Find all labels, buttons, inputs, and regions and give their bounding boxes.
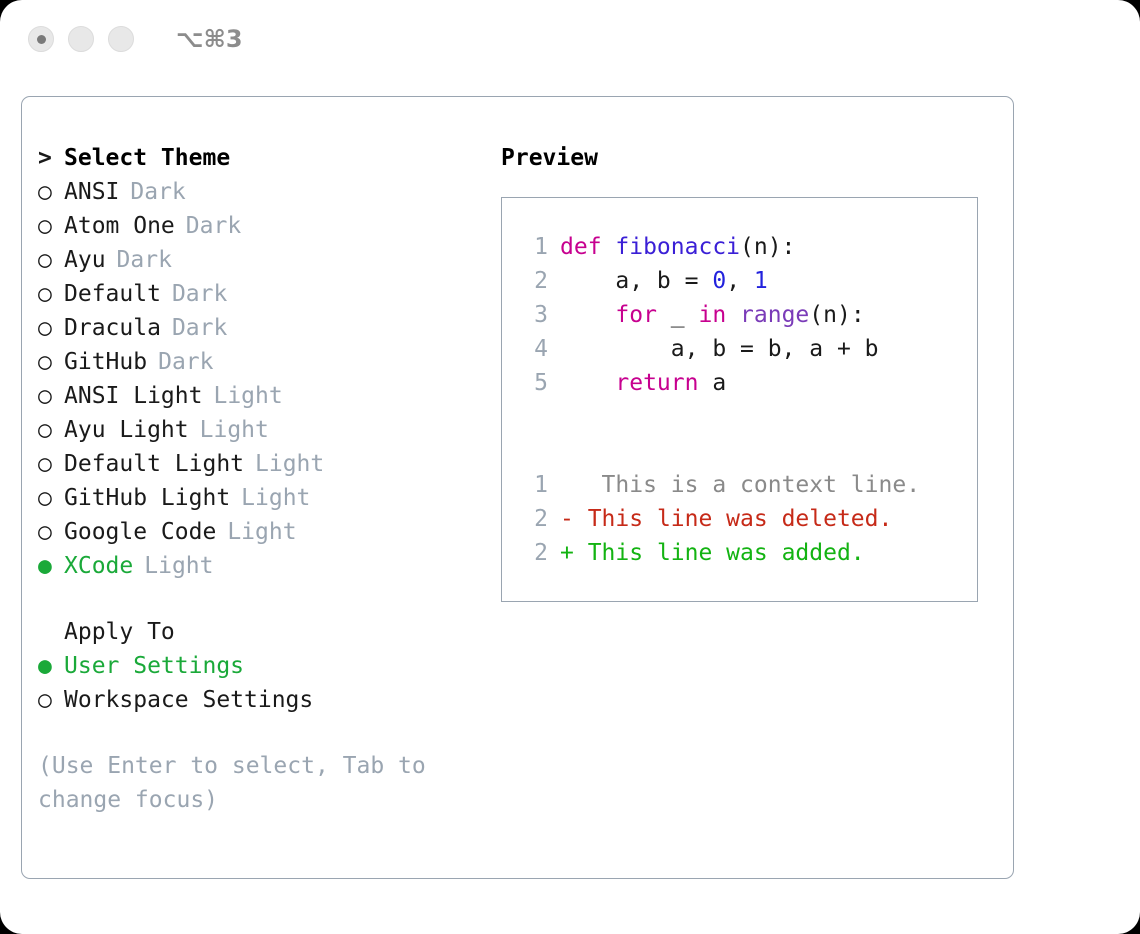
code-line: 5 return a xyxy=(522,366,977,400)
code-line: 1def fibonacci(n): xyxy=(522,230,977,264)
theme-option-atom-one[interactable]: ○Atom OneDark xyxy=(38,209,487,243)
diff-sign: - xyxy=(560,506,574,532)
theme-option-variant: Dark xyxy=(186,209,241,243)
window-dot-second[interactable] xyxy=(68,26,94,52)
code-token: in xyxy=(698,302,726,328)
line-number: 2 xyxy=(522,264,548,298)
code-token: range xyxy=(740,302,809,328)
theme-option-variant: Light xyxy=(227,515,296,549)
theme-option-variant: Dark xyxy=(158,345,213,379)
theme-option-ansi-light[interactable]: ○ANSI LightLight xyxy=(38,379,487,413)
diff-text: This line was added. xyxy=(574,540,865,566)
theme-option-name: Ayu xyxy=(64,243,106,277)
code-token: _ xyxy=(657,302,699,328)
prompt-caret-icon: > xyxy=(38,141,64,175)
code-token: , xyxy=(726,268,754,294)
theme-option-name: Ayu Light xyxy=(64,413,189,447)
theme-selector-column: > Select Theme ○ANSIDark○Atom OneDark○Ay… xyxy=(22,97,487,878)
code-token xyxy=(560,370,615,396)
theme-option-name: Dracula xyxy=(64,311,161,345)
spacer xyxy=(522,400,977,434)
apply-to-options: ●User Settings○Workspace Settings xyxy=(38,649,487,717)
theme-option-name: XCode xyxy=(64,549,133,583)
theme-option-name: Default xyxy=(64,277,161,311)
theme-option-default-light[interactable]: ○Default LightLight xyxy=(38,447,487,481)
window-titlebar: ⌥⌘3 xyxy=(0,0,1140,78)
diff-line: 2+ This line was added. xyxy=(522,536,977,570)
theme-option-github[interactable]: ○GitHubDark xyxy=(38,345,487,379)
theme-option-variant: Dark xyxy=(117,243,172,277)
spacer xyxy=(38,717,487,749)
radio-selected-icon: ● xyxy=(38,549,64,583)
radio-unselected-icon: ○ xyxy=(38,379,64,413)
radio-unselected-icon: ○ xyxy=(38,481,64,515)
select-theme-header: > Select Theme xyxy=(38,141,487,175)
theme-option-name: Atom One xyxy=(64,209,175,243)
radio-unselected-icon: ○ xyxy=(38,515,64,549)
radio-unselected-icon: ○ xyxy=(38,175,64,209)
apply-to-label: Apply To xyxy=(38,615,487,649)
diff-text: This line was deleted. xyxy=(574,506,893,532)
apply-to-option-name: User Settings xyxy=(64,649,244,683)
code-token: (n): xyxy=(740,234,795,260)
code-line: 3 for _ in range(n): xyxy=(522,298,977,332)
diff-line: 2- This line was deleted. xyxy=(522,502,977,536)
theme-option-ansi[interactable]: ○ANSIDark xyxy=(38,175,487,209)
theme-list: ○ANSIDark○Atom OneDark○AyuDark○DefaultDa… xyxy=(38,175,487,583)
window-dot-active[interactable] xyxy=(28,26,54,52)
apply-to-option-workspace-settings[interactable]: ○Workspace Settings xyxy=(38,683,487,717)
window-dot-third[interactable] xyxy=(108,26,134,52)
code-token xyxy=(560,302,615,328)
code-line: 4 a, b = b, a + b xyxy=(522,332,977,366)
theme-option-variant: Light xyxy=(241,481,310,515)
line-number: 5 xyxy=(522,366,548,400)
theme-option-variant: Dark xyxy=(172,311,227,345)
code-token: (n): xyxy=(809,302,864,328)
preview-box: 1def fibonacci(n):2 a, b = 0, 13 for _ i… xyxy=(501,197,978,602)
theme-option-ayu[interactable]: ○AyuDark xyxy=(38,243,487,277)
keyboard-hint-text: (Use Enter to select, Tab to change focu… xyxy=(38,749,448,817)
main-panel: > Select Theme ○ANSIDark○Atom OneDark○Ay… xyxy=(21,96,1014,879)
theme-option-name: Google Code xyxy=(64,515,216,549)
radio-selected-icon: ● xyxy=(38,649,64,683)
theme-option-variant: Light xyxy=(144,549,213,583)
code-token: for xyxy=(615,302,657,328)
code-token: a, b = b, a + b xyxy=(560,336,879,362)
theme-option-google-code[interactable]: ○Google CodeLight xyxy=(38,515,487,549)
theme-option-dracula[interactable]: ○DraculaDark xyxy=(38,311,487,345)
radio-unselected-icon: ○ xyxy=(38,209,64,243)
code-token: a, b = xyxy=(560,268,712,294)
apply-to-option-name: Workspace Settings xyxy=(64,683,313,717)
code-token: return xyxy=(615,370,698,396)
radio-unselected-icon: ○ xyxy=(38,413,64,447)
code-token: 0 xyxy=(712,268,726,294)
line-number: 2 xyxy=(522,536,548,570)
preview-title: Preview xyxy=(501,141,1013,175)
line-number: 3 xyxy=(522,298,548,332)
code-token: def xyxy=(560,234,615,260)
diff-sample: 1 This is a context line.2- This line wa… xyxy=(522,468,977,570)
theme-option-name: Default Light xyxy=(64,447,244,481)
theme-option-variant: Dark xyxy=(130,175,185,209)
window-dot-active-indicator xyxy=(37,35,46,44)
theme-option-name: ANSI xyxy=(64,175,119,209)
radio-unselected-icon: ○ xyxy=(38,311,64,345)
theme-option-variant: Light xyxy=(213,379,282,413)
theme-option-name: ANSI Light xyxy=(64,379,202,413)
theme-option-variant: Dark xyxy=(172,277,227,311)
theme-option-variant: Light xyxy=(200,413,269,447)
code-line: 2 a, b = 0, 1 xyxy=(522,264,977,298)
apply-to-option-user-settings[interactable]: ●User Settings xyxy=(38,649,487,683)
diff-line: 1 This is a context line. xyxy=(522,468,977,502)
app-window: ⌥⌘3 > Select Theme ○ANSIDark○Atom OneDar… xyxy=(0,0,1140,934)
theme-option-name: GitHub xyxy=(64,345,147,379)
code-token: fibonacci xyxy=(615,234,740,260)
line-number: 1 xyxy=(522,468,548,502)
theme-option-ayu-light[interactable]: ○Ayu LightLight xyxy=(38,413,487,447)
theme-option-variant: Light xyxy=(255,447,324,481)
diff-text: This is a context line. xyxy=(574,472,920,498)
radio-unselected-icon: ○ xyxy=(38,277,64,311)
theme-option-xcode[interactable]: ●XCodeLight xyxy=(38,549,487,583)
select-theme-label: Select Theme xyxy=(64,141,230,175)
spacer xyxy=(522,434,977,468)
line-number: 1 xyxy=(522,230,548,264)
theme-option-name: GitHub Light xyxy=(64,481,230,515)
diff-sign xyxy=(560,472,574,498)
code-token: a xyxy=(698,370,726,396)
code-token: 1 xyxy=(754,268,768,294)
line-number: 2 xyxy=(522,502,548,536)
spacer xyxy=(38,583,487,615)
preview-column: Preview 1def fibonacci(n):2 a, b = 0, 13… xyxy=(487,97,1013,878)
radio-unselected-icon: ○ xyxy=(38,683,64,717)
theme-option-github-light[interactable]: ○GitHub LightLight xyxy=(38,481,487,515)
diff-sign: + xyxy=(560,540,574,566)
line-number: 4 xyxy=(522,332,548,366)
code-token xyxy=(726,302,740,328)
radio-unselected-icon: ○ xyxy=(38,345,64,379)
keyboard-shortcut-label: ⌥⌘3 xyxy=(176,25,243,53)
radio-unselected-icon: ○ xyxy=(38,243,64,277)
code-sample: 1def fibonacci(n):2 a, b = 0, 13 for _ i… xyxy=(522,230,977,400)
radio-unselected-icon: ○ xyxy=(38,447,64,481)
theme-option-default[interactable]: ○DefaultDark xyxy=(38,277,487,311)
